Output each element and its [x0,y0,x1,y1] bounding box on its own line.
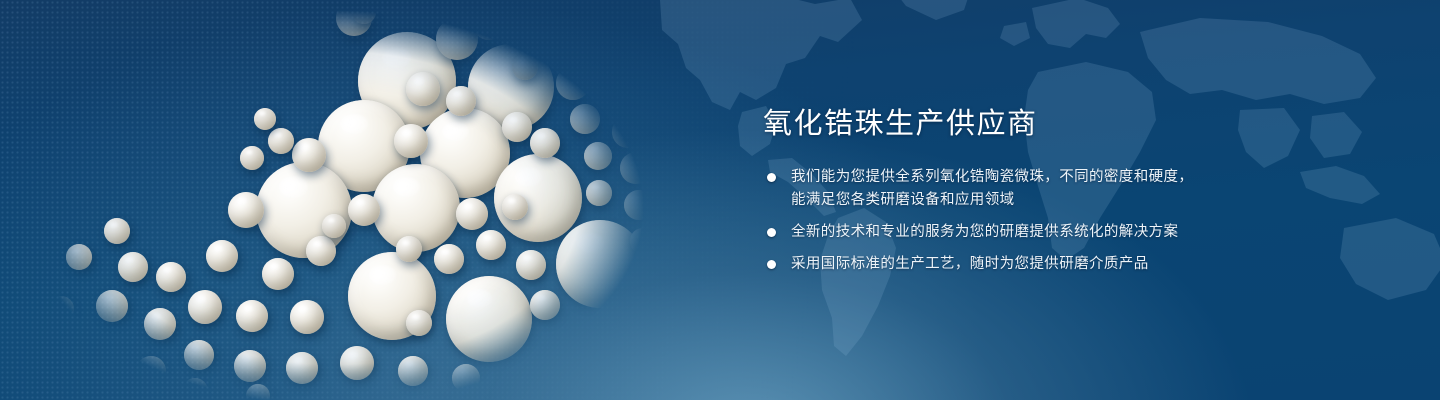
list-item: 采用国际标准的生产工艺，随时为您提供研磨介质产品 [763,253,1233,276]
bullet-text-line-2: 能满足您各类研磨设备和应用领域 [791,189,1233,212]
bullet-text-line-1: 我们能为您提供全系列氧化锆陶瓷微珠，不同的密度和硬度， [791,166,1233,189]
list-item: 全新的技术和专业的服务为您的研磨提供系统化的解决方案 [763,221,1233,244]
bullet-dot-icon [767,260,776,269]
list-item: 我们能为您提供全系列氧化锆陶瓷微珠，不同的密度和硬度， 能满足您各类研磨设备和应… [763,166,1233,212]
feature-bullet-list: 我们能为您提供全系列氧化锆陶瓷微珠，不同的密度和硬度， 能满足您各类研磨设备和应… [763,166,1233,276]
zirconia-beads-image [0,0,760,400]
bullet-dot-icon [767,173,776,182]
banner-text-column: 氧化锆珠生产供应商 我们能为您提供全系列氧化锆陶瓷微珠，不同的密度和硬度， 能满… [763,104,1233,276]
bullet-text-line-1: 采用国际标准的生产工艺，随时为您提供研磨介质产品 [791,253,1233,276]
hero-banner: 氧化锆珠生产供应商 我们能为您提供全系列氧化锆陶瓷微珠，不同的密度和硬度， 能满… [0,0,1440,400]
bullet-dot-icon [767,228,776,237]
bullet-text-line-1: 全新的技术和专业的服务为您的研磨提供系统化的解决方案 [791,221,1233,244]
page-title: 氧化锆珠生产供应商 [763,104,1233,144]
